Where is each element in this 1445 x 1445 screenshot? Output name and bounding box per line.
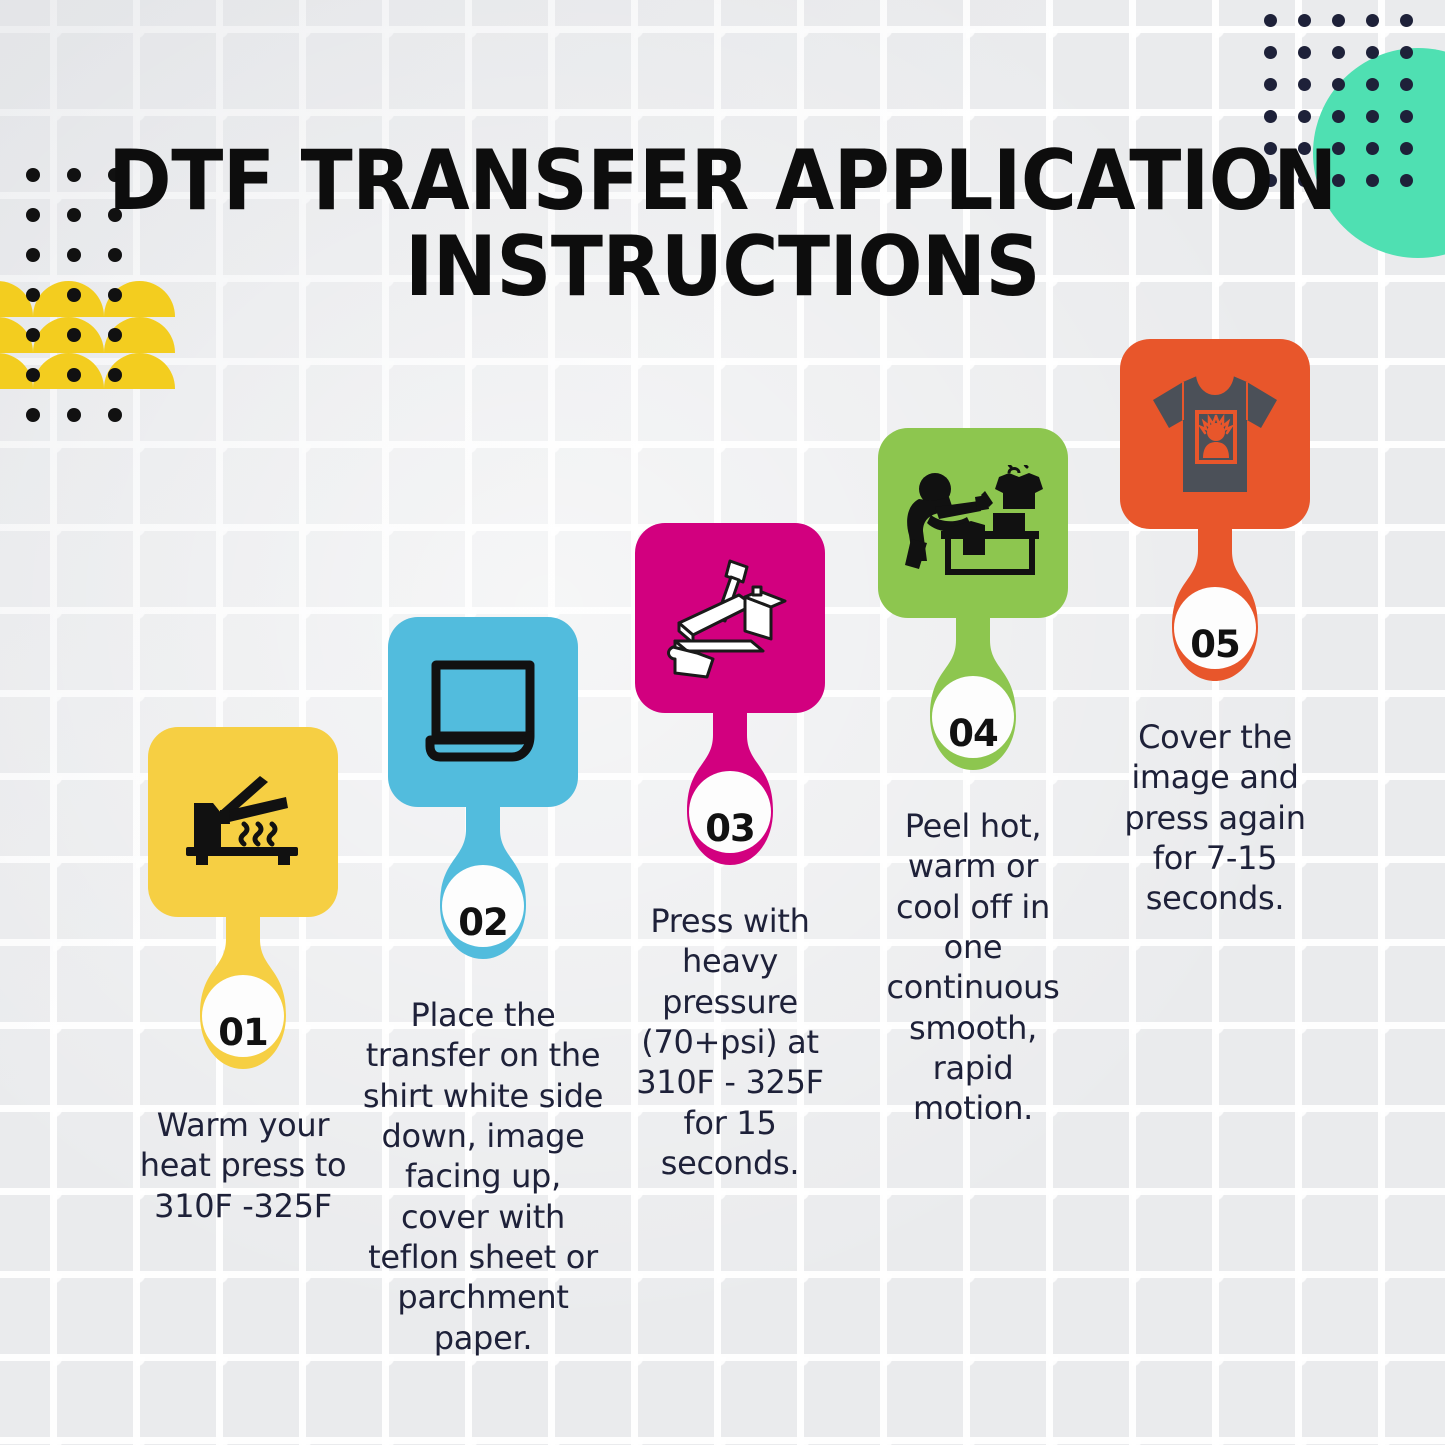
step-01-number: 01 <box>178 1011 308 1054</box>
peeling-worker-icon <box>901 465 1045 581</box>
heat-press-machine-icon <box>667 555 793 681</box>
step-item-03[interactable]: 03 Press with heavy pressure (70+psi) at… <box>605 523 855 1183</box>
step-item-05[interactable]: 05 Cover the image and press again for 7… <box>1090 339 1340 919</box>
step-01-connector: 01 <box>178 913 308 1083</box>
step-01-caption: Warm your heat press to 310F -325F <box>136 1105 351 1226</box>
step-04-caption: Peel hot, warm or cool off in one contin… <box>878 806 1068 1129</box>
step-04-number: 04 <box>908 712 1038 755</box>
step-05-number: 05 <box>1150 623 1280 666</box>
step-item-01[interactable]: 01 Warm your heat press to 310F -325F <box>118 727 368 1226</box>
step-04-icon-card[interactable] <box>878 428 1068 618</box>
step-02-number: 02 <box>418 901 548 944</box>
step-03-connector: 03 <box>665 709 795 879</box>
step-05-caption: Cover the image and press again for 7-15… <box>1117 717 1313 919</box>
step-03-caption: Press with heavy pressure (70+psi) at 31… <box>626 901 834 1183</box>
step-02-icon-card[interactable] <box>388 617 578 807</box>
step-04-connector: 04 <box>908 614 1038 784</box>
printed-tshirt-icon <box>1147 366 1283 502</box>
step-item-04[interactable]: 04 Peel hot, warm or cool off in one con… <box>848 428 1098 1129</box>
step-03-number: 03 <box>665 807 795 850</box>
transfer-sheet-icon <box>424 658 542 766</box>
heat-press-open-icon <box>182 772 304 872</box>
step-item-02[interactable]: 02 Place the transfer on the shirt white… <box>358 617 608 1358</box>
step-03-icon-card[interactable] <box>635 523 825 713</box>
step-01-icon-card[interactable] <box>148 727 338 917</box>
page-title-line-2: INSTRUCTIONS <box>58 224 1387 310</box>
step-02-connector: 02 <box>418 803 548 973</box>
step-02-caption: Place the transfer on the shirt white si… <box>357 995 609 1358</box>
step-05-icon-card[interactable] <box>1120 339 1310 529</box>
step-05-connector: 05 <box>1150 525 1280 695</box>
page-title-line-1: DTF TRANSFER APPLICATION <box>58 138 1387 224</box>
page-title: DTF TRANSFER APPLICATION INSTRUCTIONS <box>0 138 1445 311</box>
